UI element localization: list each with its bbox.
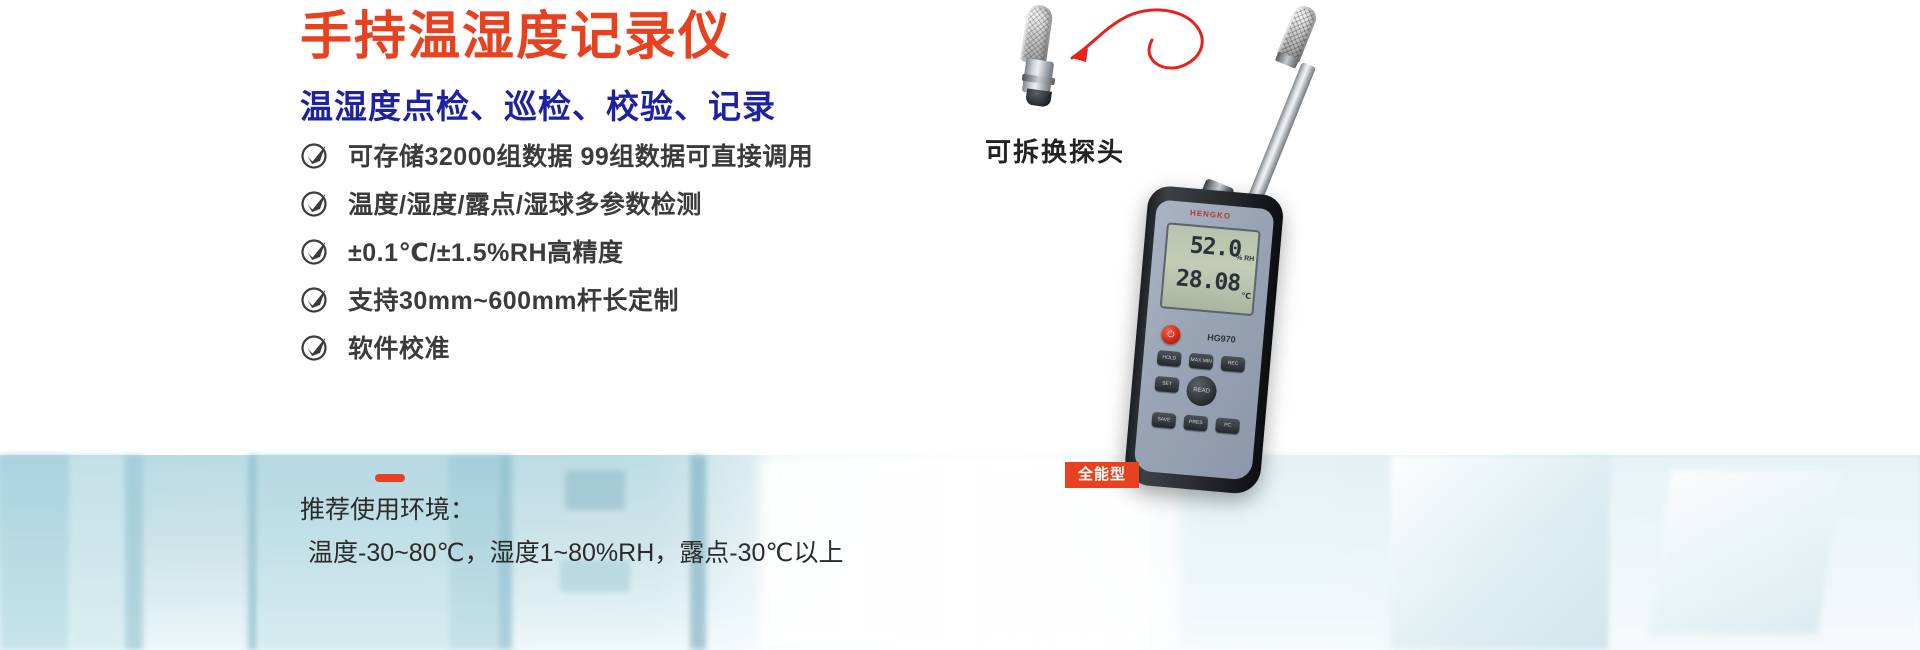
bg-shape: [0, 455, 70, 650]
check-circle-icon: [300, 140, 330, 170]
bg-shape: [125, 455, 143, 650]
check-circle-icon: [300, 188, 330, 218]
key-navigation[interactable]: READ: [1185, 375, 1218, 408]
feature-list: 可存储32000组数据 99组数据可直接调用 温度/湿度/露点/湿球多参数检测 …: [300, 132, 813, 372]
check-circle-icon: [300, 332, 330, 362]
feature-text: 温度/湿度/露点/湿球多参数检测: [348, 185, 702, 221]
key-hold[interactable]: HOLD: [1157, 350, 1182, 367]
list-item: 软件校准: [300, 324, 813, 370]
feature-text: 软件校准: [348, 329, 450, 365]
key-rec[interactable]: REC: [1220, 356, 1245, 373]
bg-shape: [248, 455, 258, 650]
page-subtitle: 温湿度点检、巡检、校验、记录: [300, 80, 776, 128]
key-maxmin[interactable]: MAX MIN: [1189, 353, 1214, 370]
environment-spec: 温度-30~80℃，湿度1~80%RH，露点-30℃以上: [308, 533, 843, 569]
key-set[interactable]: SET: [1154, 376, 1179, 393]
feature-text: 支持30mm~600mm杆长定制: [348, 281, 679, 317]
list-item: ±0.1℃/±1.5%RH高精度: [300, 228, 813, 274]
product-banner: 手持温湿度记录仪 温湿度点检、巡检、校验、记录 可存储32000组数据 99组数…: [0, 0, 1920, 650]
humidity-value: 52.0: [1189, 232, 1242, 262]
environment-title: 推荐使用环境：: [300, 490, 475, 526]
red-dash-marker: [375, 474, 405, 482]
product-device: HENGKO 52.0 % RH 28.08 ℃ ⏻ HG970 HOLD MA…: [1050, 0, 1380, 520]
list-item: 支持30mm~600mm杆长定制: [300, 276, 813, 322]
meter-front-panel: HENGKO 52.0 % RH 28.08 ℃ ⏻ HG970 HOLD MA…: [1133, 199, 1274, 480]
check-circle-icon: [300, 284, 330, 314]
key-save[interactable]: SAVE: [1151, 412, 1176, 429]
temperature-value: 28.08: [1175, 265, 1241, 297]
bg-shape: [1390, 455, 1610, 650]
list-item: 可存储32000组数据 99组数据可直接调用: [300, 132, 813, 178]
key-pres[interactable]: PRES: [1183, 415, 1208, 432]
check-circle-icon: [300, 236, 330, 266]
humidity-unit: % RH: [1236, 254, 1255, 263]
meter-housing: HENGKO 52.0 % RH 28.08 ℃ ⏻ HG970 HOLD MA…: [1123, 185, 1285, 496]
lcd-display: 52.0 % RH 28.08 ℃: [1160, 222, 1261, 316]
feature-text: ±0.1℃/±1.5%RH高精度: [348, 233, 624, 269]
bg-shape: [70, 455, 125, 650]
bg-shape: [565, 470, 625, 510]
feature-text: 可存储32000组数据 99组数据可直接调用: [348, 137, 813, 173]
key-pc[interactable]: PC: [1215, 417, 1240, 434]
bg-shape: [1648, 470, 1841, 635]
list-item: 温度/湿度/露点/湿球多参数检测: [300, 180, 813, 226]
temperature-unit: ℃: [1241, 291, 1251, 301]
brand-logo: HENGKO: [1190, 208, 1232, 221]
model-number: HG970: [1207, 332, 1236, 344]
keypad: HOLD MAX MIN REC SET READ SAVE PRES PC: [1144, 350, 1253, 468]
page-title: 手持温湿度记录仪: [300, 8, 732, 68]
power-button[interactable]: ⏻: [1161, 324, 1182, 345]
status-badge: 全能型: [1065, 462, 1139, 488]
